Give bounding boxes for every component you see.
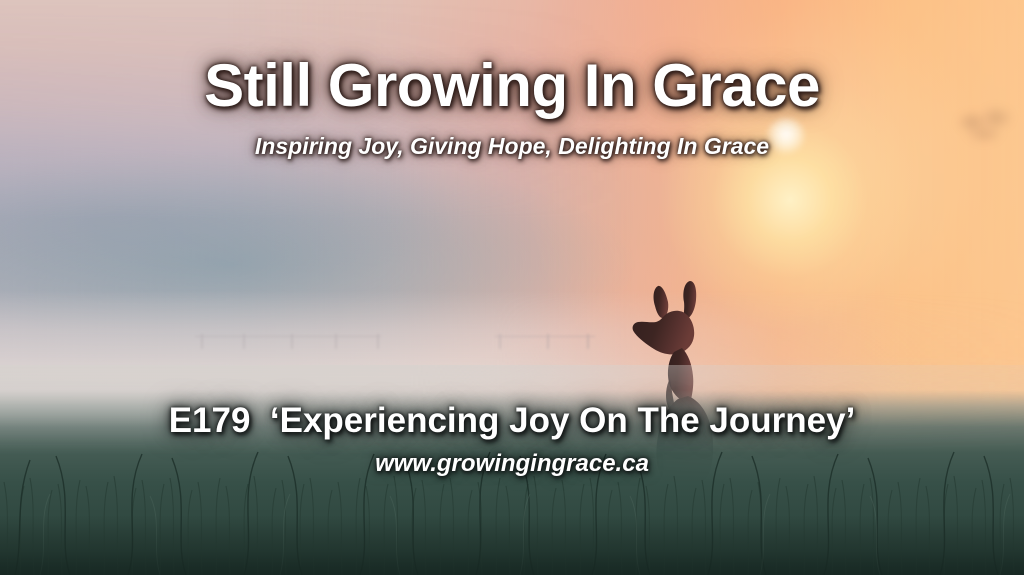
- text-overlay: Still Growing In Grace Inspiring Joy, Gi…: [0, 0, 1024, 575]
- page-title: Still Growing In Grace: [0, 56, 1024, 116]
- episode-title: E179 ‘Experiencing Joy On The Journey’: [0, 403, 1024, 438]
- podcast-cover-art: Still Growing In Grace Inspiring Joy, Gi…: [0, 0, 1024, 575]
- tagline: Inspiring Joy, Giving Hope, Delighting I…: [0, 135, 1024, 158]
- website-url: www.growingingrace.ca: [0, 452, 1024, 476]
